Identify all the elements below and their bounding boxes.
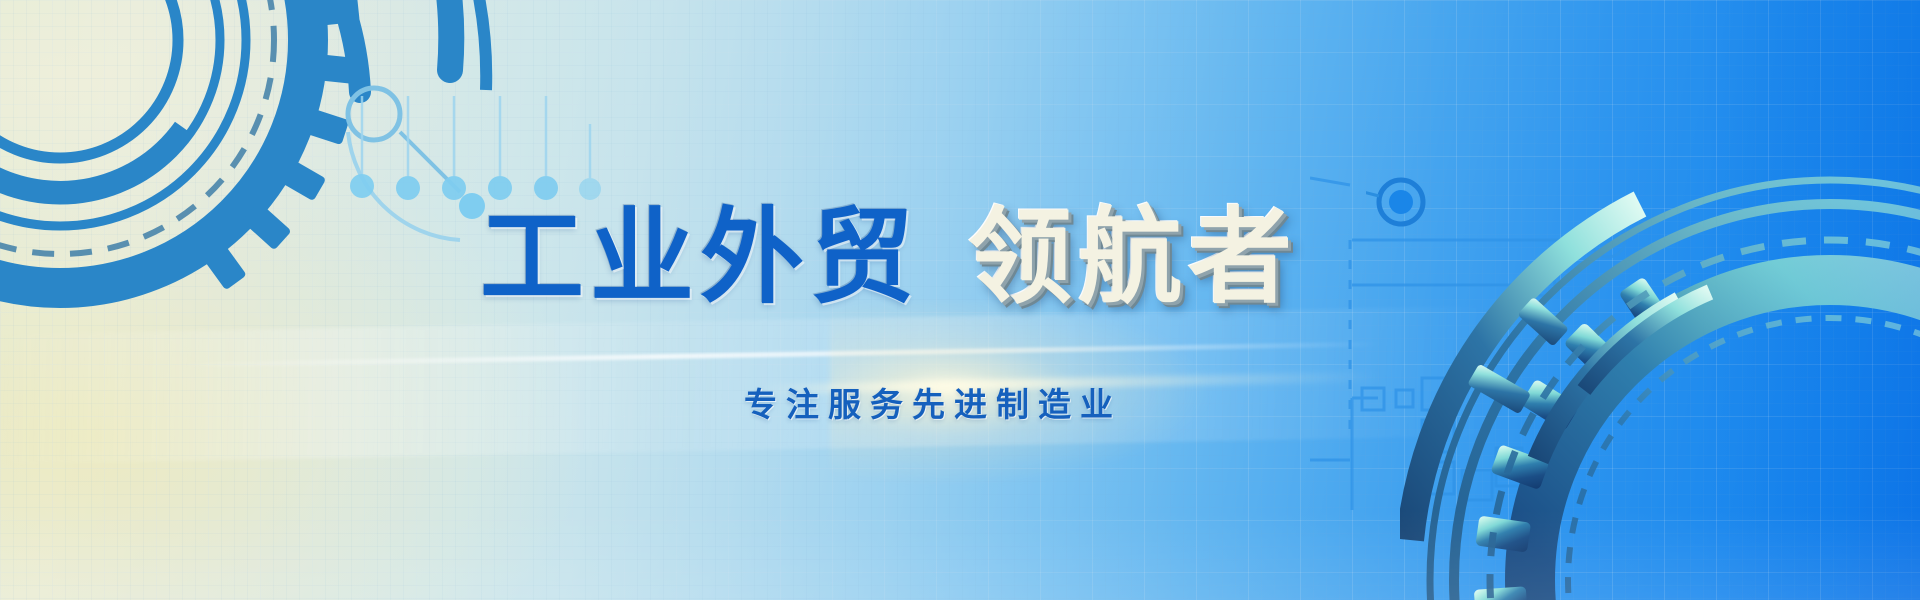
headline-part-white: 领航者 [968, 205, 1298, 309]
bottom-edge-shade [0, 510, 1920, 600]
headline: 工业外贸 领航者 [480, 205, 1298, 309]
industrial-trade-banner: 工业外贸 领航者 专注服务先进制造业 [0, 0, 1920, 600]
headline-part-blue: 工业外贸 [480, 205, 920, 309]
subtitle: 专注服务先进制造业 [744, 378, 1122, 426]
